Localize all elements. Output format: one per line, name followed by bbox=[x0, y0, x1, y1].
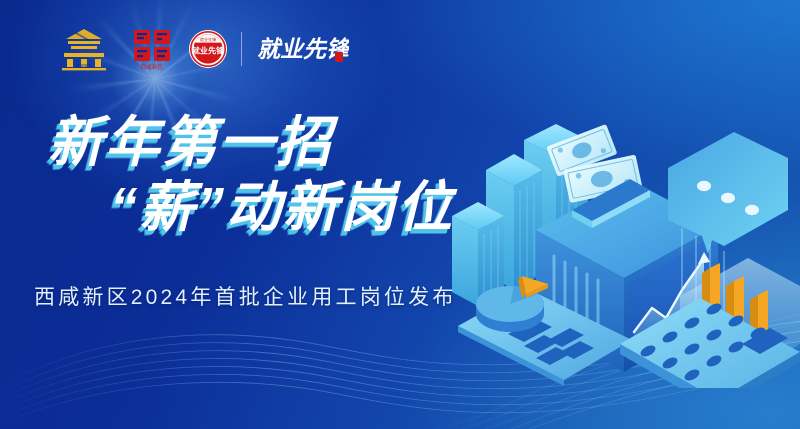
banner-subtitle: 西咸新区2024年首批企业用工岗位发布 bbox=[34, 281, 457, 311]
employment-pioneer-brand: 就业先锋 就业先锋 就业先锋 bbox=[188, 29, 349, 69]
logo-divider bbox=[241, 32, 242, 66]
employment-pioneer-wordmark-icon: 就业先锋 bbox=[255, 30, 349, 68]
xixian-new-area-emblem-icon: 西咸新区 bbox=[52, 26, 116, 72]
logo-bar: 西咸新区 西咸新区 bbox=[52, 24, 349, 74]
employment-pioneer-seal-icon: 就业先锋 就业先锋 bbox=[188, 29, 228, 69]
seal-center-caption: 就业先锋 bbox=[192, 45, 226, 55]
headline-block: 新年第一招 “薪”动新岗位 bbox=[48, 112, 518, 237]
xixian-seal-logo-icon: 西咸新区 bbox=[130, 26, 174, 72]
emblem-caption: 西咸新区 bbox=[76, 62, 93, 69]
seal-top-caption: 就业先锋 bbox=[200, 36, 216, 42]
illustration-svg bbox=[452, 118, 800, 388]
recruitment-banner: 西咸新区 西咸新区 bbox=[0, 0, 800, 429]
headline-line-1: 新年第一招 bbox=[48, 112, 518, 173]
isometric-illustration bbox=[452, 118, 800, 388]
seal-caption: 西咸新区 bbox=[141, 63, 164, 71]
